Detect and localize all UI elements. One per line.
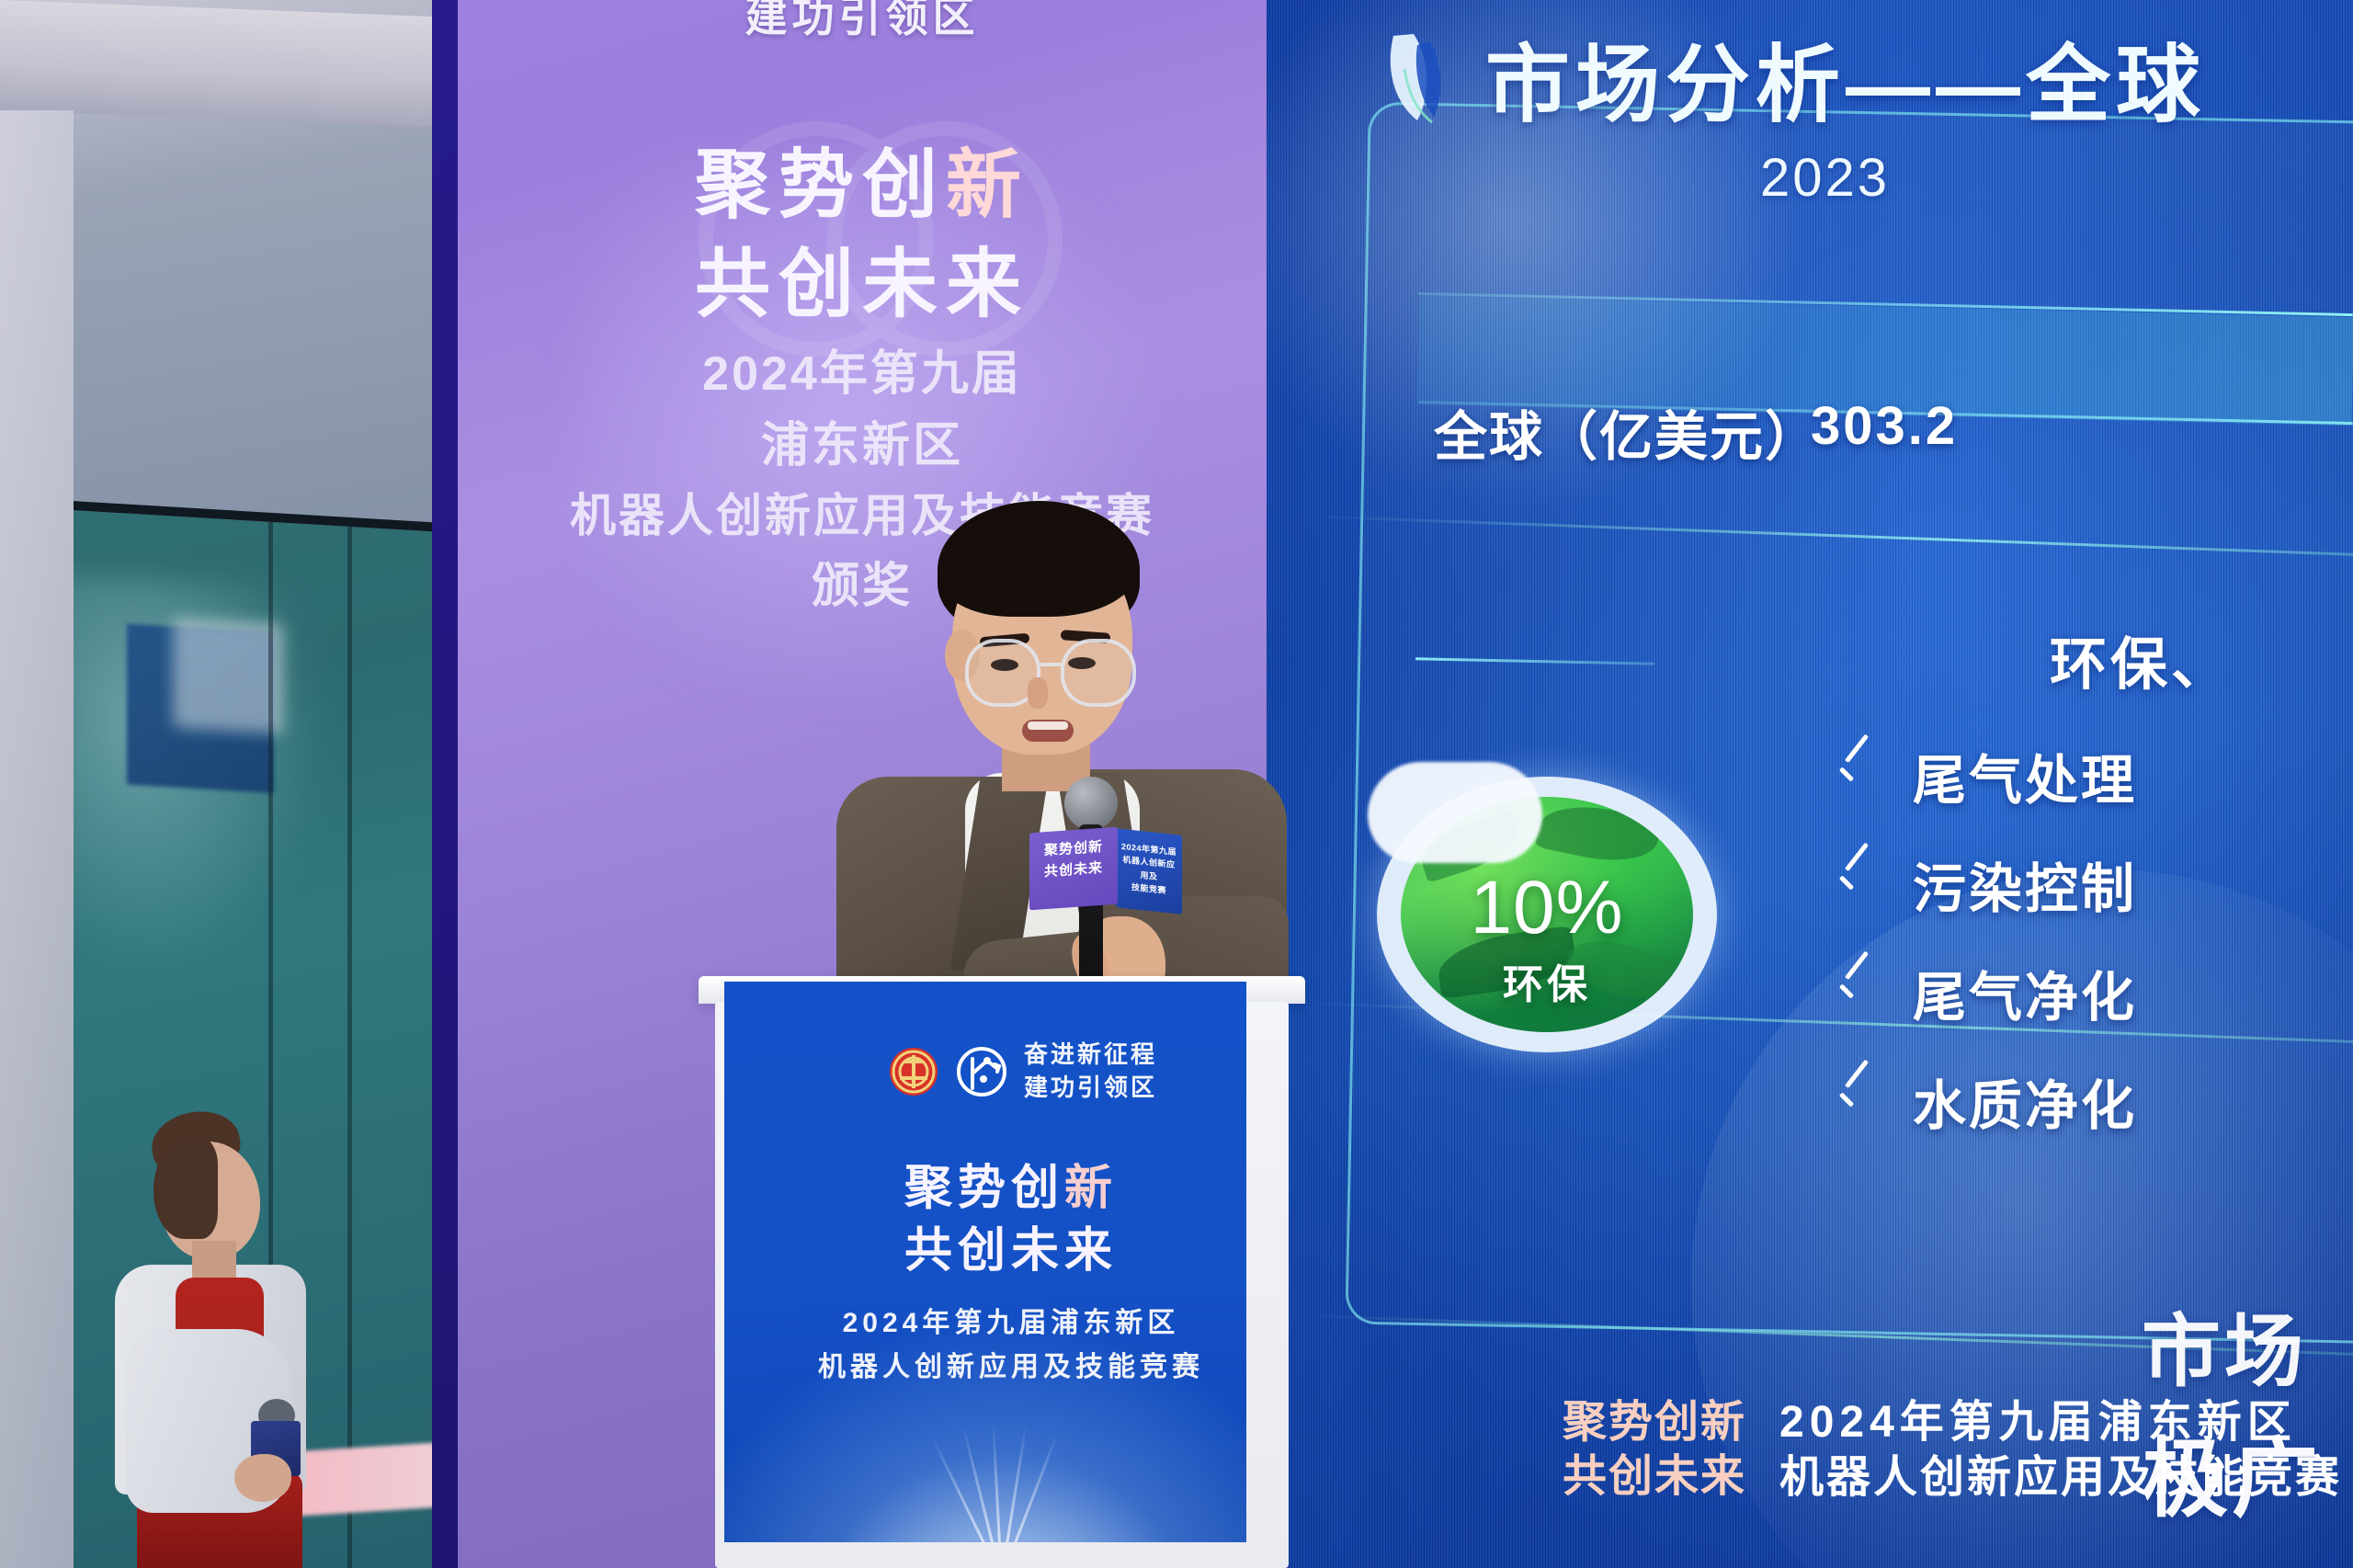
wall-pillar: [0, 110, 74, 1568]
podium: 奋进新征程 建功引领区 聚势创新 共创未来 2024年第九届浦东新区 机器人创新…: [699, 976, 1305, 1568]
microphone-flag-side-text: 2024年第九届 机器人创新应用及 技能竞赛: [1120, 840, 1178, 899]
speaker-nose: [1028, 677, 1048, 709]
checklist-label: 污染控制: [1913, 846, 2137, 923]
badge-percent: 10%: [1377, 865, 1717, 951]
podium-event-line2: 机器人创新应用及技能竞赛: [724, 1346, 1246, 1390]
attendant-person: [97, 1112, 345, 1568]
checklist-label: 水质净化: [1913, 1062, 2137, 1140]
eyeglass-lens: [1061, 639, 1136, 707]
screen-banner-slogan-line2: 共创未来: [1563, 1450, 1746, 1505]
podium-slogan: 聚势创新 共创未来: [724, 1158, 1246, 1282]
table-column-header-2023: 2023: [1760, 147, 1890, 209]
table-row-value: 303.2: [1811, 395, 1958, 457]
list-item: 尾气净化: [1834, 938, 2137, 1047]
podium-slogan-line1-light: 聚势创: [904, 1162, 1064, 1215]
ghost-text-line1: 市场: [2142, 1287, 2322, 1402]
badge-cloud-accent: [1368, 762, 1542, 863]
slide-title: 市场分析——全球: [1485, 17, 2206, 139]
backdrop-top-line: 建功引领区: [458, 0, 1267, 44]
checklist-label: 尾气净化: [1913, 954, 2137, 1031]
robot-arm-icon: [956, 1046, 1007, 1097]
speaker-teeth: [1028, 722, 1068, 730]
podium-event-line1: 2024年第九届浦东新区: [724, 1301, 1246, 1346]
screen-banner-event-name: 2024年第九届浦东新区 机器人创新应用及技能竞赛: [1779, 1395, 2342, 1505]
check-icon: [1834, 1079, 1878, 1123]
backdrop-slogan-line1: 聚势创新: [458, 136, 1267, 235]
backdrop-slogan: 聚势创新 共创未来: [458, 136, 1267, 335]
ceiling: [0, 0, 432, 127]
screen-banner-slogan-line1: 聚势创新: [1563, 1396, 1746, 1450]
eco-percentage-badge: 10% 环保: [1377, 777, 1717, 1052]
podium-slogan-line2: 共创未来: [724, 1221, 1246, 1283]
eyeglass-bridge: [1040, 663, 1063, 666]
backdrop-slogan-line1-light: 聚势创: [695, 143, 946, 227]
podium-logo-line1: 奋进新征程: [1024, 1039, 1157, 1072]
podium-logo-line2: 建功引领区: [1024, 1072, 1157, 1105]
backdrop-slogan-line1-pink: 新: [946, 143, 1029, 227]
podium-logo-row: 奋进新征程 建功引领区: [888, 1039, 1157, 1105]
microphone-flag-front: 聚势创新 共创未来: [1029, 827, 1118, 911]
union-emblem-icon: [888, 1046, 939, 1097]
microphone-flag-front-text: 聚势创新 共创未来: [1035, 836, 1112, 883]
screen-banner-name-line1: 2024年第九届浦东新区: [1779, 1395, 2342, 1450]
backdrop-sub-line2: 浦东新区: [458, 410, 1267, 482]
checklist-label: 尾气处理: [1913, 737, 2137, 814]
podium-slogan-line1-pink: 新: [1064, 1162, 1118, 1215]
stage-photo: 建功引领区 聚势创新 共创未来 2024年第九届 浦东新区 机器人创新应用及技能…: [0, 0, 2353, 1568]
podium-slogan-line1: 聚势创新: [724, 1158, 1246, 1221]
screen-bottom-banner: 聚势创新 共创未来 2024年第九届浦东新区 机器人创新应用及技能竞赛: [1563, 1395, 2342, 1505]
section-heading: 环保、: [2050, 618, 2232, 700]
attendant-neck: [192, 1241, 236, 1278]
microphone-flag-side: 2024年第九届 机器人创新应用及 技能竞赛: [1116, 828, 1182, 915]
slide-title-row: 市场分析——全球: [1377, 17, 2353, 139]
podium-front-panel: 奋进新征程 建功引领区 聚势创新 共创未来 2024年第九届浦东新区 机器人创新…: [724, 982, 1246, 1542]
table-row-label: 全球（亿美元）: [1434, 393, 1820, 471]
backdrop-edge-strip: [432, 0, 458, 1568]
podium-logo-text: 奋进新征程 建功引领区: [1024, 1039, 1157, 1105]
list-item: 水质净化: [1834, 1047, 2137, 1155]
list-item: 污染控制: [1834, 830, 2137, 938]
badge-label: 环保: [1377, 951, 1717, 1010]
screen-banner-slogan: 聚势创新 共创未来: [1563, 1396, 1746, 1504]
check-icon: [1834, 971, 1878, 1015]
podium-event-name: 2024年第九届浦东新区 机器人创新应用及技能竞赛: [724, 1301, 1246, 1390]
speaker-hair-front: [939, 508, 1138, 617]
check-icon: [1834, 862, 1878, 906]
leaf-icon: [1377, 28, 1461, 128]
check-icon: [1834, 754, 1878, 798]
feature-checklist: 尾气处理 污染控制 尾气净化 水质净化: [1834, 722, 2137, 1155]
list-item: 尾气处理: [1834, 722, 2137, 830]
microphone-head-icon: [1064, 777, 1118, 830]
backdrop-sub-line1: 2024年第九届: [458, 338, 1267, 410]
screen-banner-name-line2: 机器人创新应用及技能竞赛: [1779, 1450, 2342, 1506]
eyeglasses-icon: [965, 639, 1138, 707]
glass-highlight: [173, 618, 283, 734]
backdrop-slogan-line2: 共创未来: [458, 235, 1267, 335]
attendant-hand: [234, 1454, 291, 1502]
window-mullion: [347, 527, 352, 1568]
attendant-hair: [153, 1138, 218, 1239]
